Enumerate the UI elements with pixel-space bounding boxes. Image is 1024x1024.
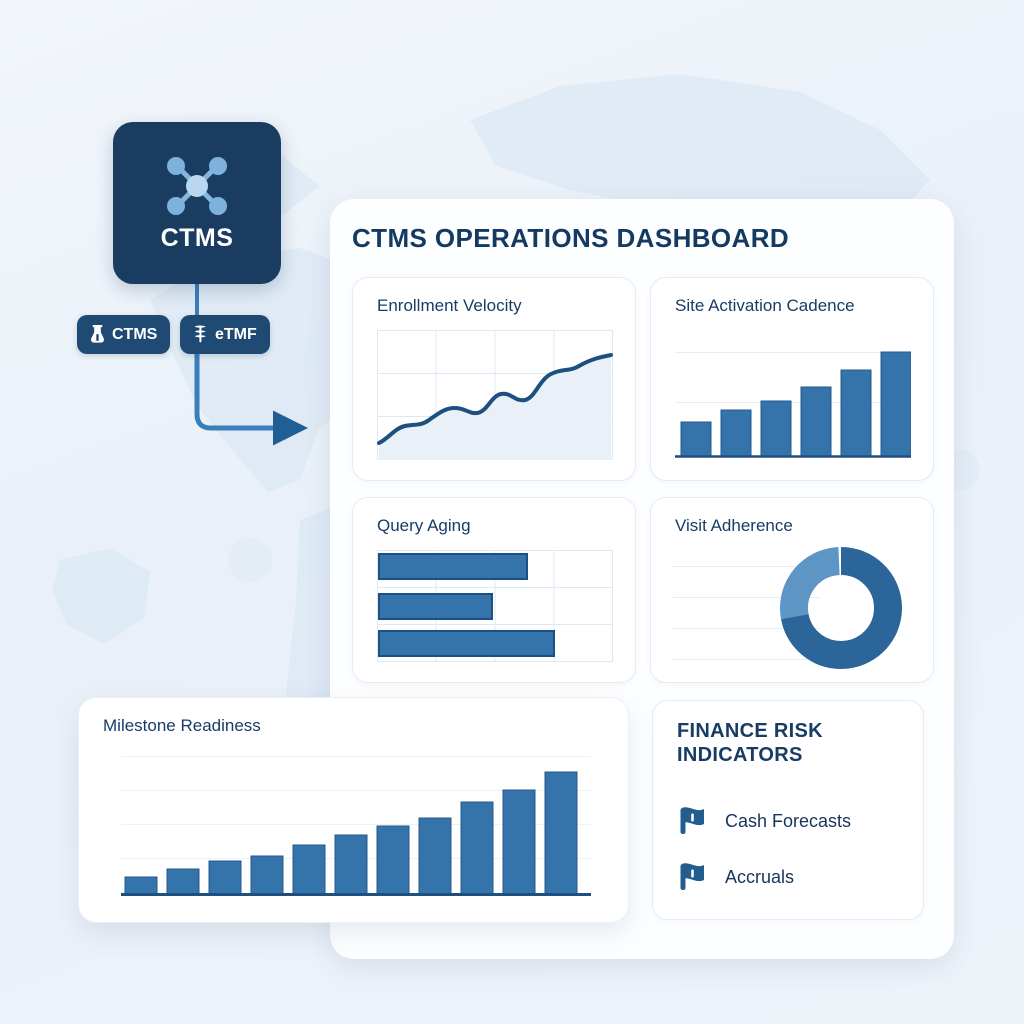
card-query-aging[interactable]: Query Aging <box>352 497 636 683</box>
document-stack-icon <box>193 325 208 344</box>
badge-etmf[interactable]: eTMF <box>180 315 270 354</box>
card-site-activation-cadence[interactable]: Site Activation Cadence <box>650 277 934 481</box>
ctms-source-block[interactable]: CTMS <box>113 122 281 284</box>
finance-indicator-label: Accruals <box>725 867 794 888</box>
flask-icon <box>90 325 105 344</box>
card-milestone-readiness[interactable]: Milestone Readiness <box>78 697 629 923</box>
card-title-enrollment: Enrollment Velocity <box>377 296 522 316</box>
dashboard-title: CTMS OPERATIONS DASHBOARD <box>352 223 789 254</box>
card-title-activation: Site Activation Cadence <box>675 296 855 316</box>
card-finance-risk-indicators[interactable]: FINANCE RISK INDICATORS Cash Forecasts A… <box>652 700 924 920</box>
finance-indicator-cash-forecasts[interactable]: Cash Forecasts <box>677 805 851 837</box>
card-visit-adherence[interactable]: Visit Adherence <box>650 497 934 683</box>
ctms-source-label: CTMS <box>161 224 234 253</box>
badge-ctms[interactable]: CTMS <box>77 315 170 354</box>
card-enrollment-velocity[interactable]: Enrollment Velocity <box>352 277 636 481</box>
enrollment-velocity-chart <box>377 330 613 460</box>
query-aging-chart <box>377 550 613 662</box>
card-title-query: Query Aging <box>377 516 471 536</box>
card-title-visit: Visit Adherence <box>675 516 793 536</box>
finance-indicator-accruals[interactable]: Accruals <box>677 861 794 893</box>
network-nodes-icon <box>160 154 234 218</box>
card-title-milestone: Milestone Readiness <box>103 716 261 736</box>
finance-indicator-label: Cash Forecasts <box>725 811 851 832</box>
flag-icon <box>677 861 709 893</box>
visit-adherence-donut-chart <box>669 542 917 672</box>
milestone-readiness-chart <box>121 756 591 898</box>
card-title-finance: FINANCE RISK INDICATORS <box>677 719 923 768</box>
badge-etmf-label: eTMF <box>215 326 257 344</box>
flag-icon <box>677 805 709 837</box>
badge-ctms-label: CTMS <box>112 326 157 344</box>
site-activation-cadence-chart <box>675 330 911 460</box>
